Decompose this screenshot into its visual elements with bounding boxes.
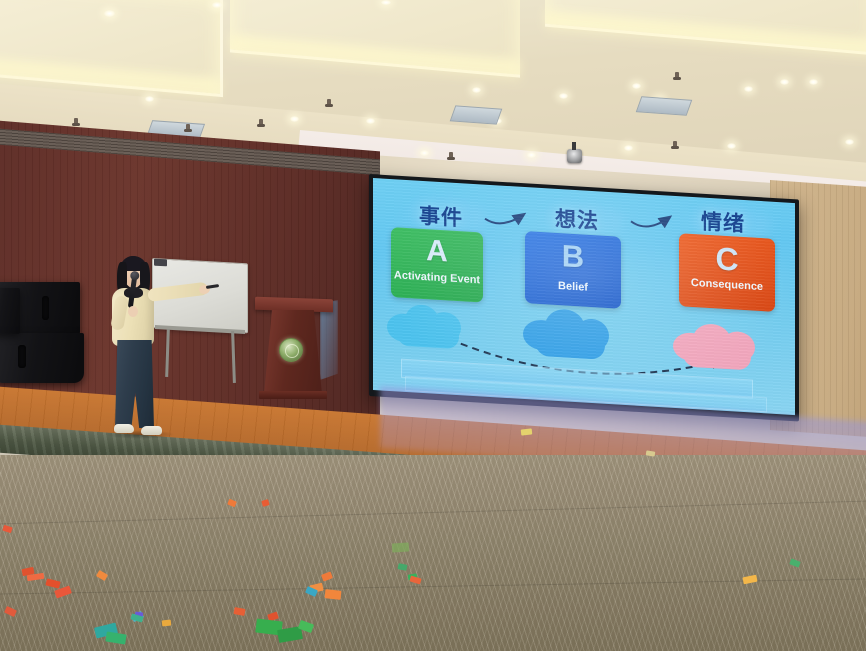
podium-base (259, 391, 327, 399)
sprinkler-head (673, 141, 677, 148)
sprinkler-head (259, 119, 263, 126)
loudspeaker-bottom (0, 333, 84, 383)
ceiling-camera-icon (567, 149, 582, 163)
slide-abc-model: 事件 想法 情绪 A Activatin (373, 178, 795, 415)
abc-box-a[interactable]: A Activating Event (391, 227, 483, 302)
paper-scrap (392, 542, 410, 552)
abc-letter-b: B (562, 240, 584, 272)
sprinkler-head (449, 152, 453, 159)
ceiling-downlight (290, 116, 299, 122)
abc-box-c[interactable]: C Consequence (679, 233, 775, 312)
paper-scrap (521, 428, 533, 435)
presenter-shoe-left (114, 424, 134, 433)
ceiling-downlight (212, 2, 222, 8)
sprinkler-head (675, 72, 679, 79)
ceiling-downlight (559, 93, 568, 99)
whiteboard-clip (154, 259, 167, 267)
loudspeaker-rear (0, 288, 20, 334)
ceiling-downlight (420, 150, 429, 156)
abc-box-b[interactable]: B Belief (525, 231, 621, 309)
ceiling-downlight (727, 143, 736, 149)
sprinkler-head (327, 99, 331, 106)
abc-letter-c: C (715, 242, 738, 275)
paper-scrap (325, 589, 342, 600)
ceiling-downlight (145, 96, 154, 102)
air-vent (450, 105, 503, 124)
ceiling-downlight (366, 118, 375, 124)
ceiling-downlight (104, 10, 115, 17)
ceiling-downlight (809, 79, 818, 85)
ceiling-downlight (624, 145, 633, 151)
sprinkler-head (74, 118, 78, 125)
arrow-event-to-belief (485, 213, 523, 225)
abc-caption-b: Belief (558, 280, 588, 294)
ceiling-downlight (527, 152, 536, 158)
speaker-port (18, 345, 26, 368)
arrow-belief-to-emotion (631, 215, 669, 228)
presenter-shoe-right (141, 426, 162, 435)
ceiling-downlight (632, 83, 641, 89)
presenter-hand-left (128, 306, 138, 317)
carpet-floor (0, 455, 866, 651)
ceiling-downlight (845, 139, 854, 145)
ceiling-downlight (744, 86, 753, 92)
sprinkler-head (186, 124, 190, 131)
ceiling-downlight (472, 87, 481, 93)
abc-caption-c: Consequence (691, 277, 763, 293)
abc-letter-a: A (426, 236, 448, 267)
paper-scrap (162, 620, 172, 627)
podium-emblem-icon (279, 338, 303, 362)
led-screen-display[interactable]: 事件 想法 情绪 A Activatin (373, 178, 795, 415)
abc-caption-a: Activating Event (394, 269, 480, 286)
presentation-room-scene: 事件 想法 情绪 A Activatin (0, 0, 866, 651)
speaker-port (42, 296, 49, 320)
ceiling-downlight (381, 0, 391, 5)
ceiling-downlight (780, 79, 789, 85)
